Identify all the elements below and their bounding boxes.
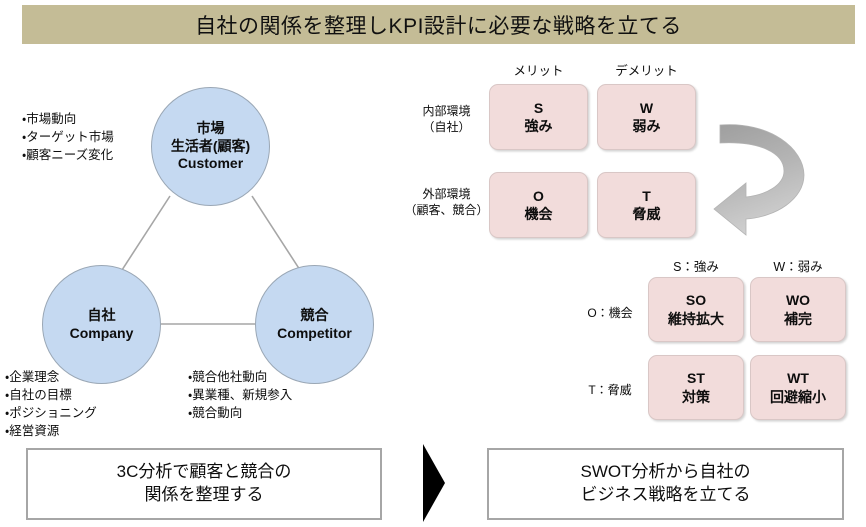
- cross-swot-row-header-opportunity: O：機会: [577, 305, 643, 321]
- cross-swot-column-header-weakness: W：弱み: [750, 256, 846, 275]
- circle-company-line1: 自社: [88, 307, 116, 325]
- page-title: 自社の関係を整理しKPI設計に必要な戦略を立てる: [195, 10, 682, 40]
- swot-column-header-merit: メリット: [489, 60, 588, 79]
- caption-three-c-text: 3C分析で顧客と競合の関係を整理する: [117, 461, 292, 507]
- swot-cell-opportunity[interactable]: O 機会: [489, 172, 588, 238]
- circle-competitor-line1: 競合: [301, 307, 329, 325]
- caption-box-three-c[interactable]: 3C分析で顧客と競合の関係を整理する: [26, 448, 382, 520]
- swot-row-header-external: 外部環境（顧客、競合）: [398, 186, 495, 218]
- circle-customer[interactable]: 市場 生活者(顧客) Customer: [151, 87, 270, 206]
- swot-cell-threat[interactable]: T 脅威: [597, 172, 696, 238]
- circle-customer-line3: Customer: [178, 155, 243, 173]
- slide-canvas: 自社の関係を整理しKPI設計に必要な戦略を立てる 市場 生活者(顧客) Cust…: [0, 0, 866, 527]
- slide-title-banner: 自社の関係を整理しKPI設計に必要な戦略を立てる: [22, 5, 855, 44]
- circle-customer-line1: 市場: [197, 120, 225, 138]
- cross-swot-cell-st-letter: ST: [687, 369, 705, 387]
- swot-row-header-internal: 内部環境（自社）: [404, 103, 489, 135]
- cross-swot-cell-wt-label: 回避縮小: [770, 388, 826, 406]
- cross-swot-column-header-strength: S：強み: [648, 256, 744, 275]
- notes-customer: ・市場動向・ターゲット市場・顧客ニーズ変化: [22, 110, 114, 164]
- swot-cell-threat-letter: T: [642, 187, 651, 205]
- cross-swot-cell-wt[interactable]: WT 回避縮小: [750, 355, 846, 420]
- caption-swot-text: SWOT分析から自社のビジネス戦略を立てる: [581, 461, 751, 507]
- swot-column-header-demerit: デメリット: [597, 60, 696, 79]
- curved-arrow-icon: [708, 113, 838, 238]
- cross-swot-cell-st[interactable]: ST 対策: [648, 355, 744, 420]
- circle-company-line2: Company: [70, 325, 134, 343]
- cross-swot-cell-st-label: 対策: [682, 388, 710, 406]
- caption-box-swot[interactable]: SWOT分析から自社のビジネス戦略を立てる: [487, 448, 844, 520]
- cross-swot-cell-wo-letter: WO: [786, 291, 810, 309]
- swot-cell-threat-label: 脅威: [633, 205, 661, 223]
- cross-swot-cell-wo-label: 補完: [784, 310, 812, 328]
- swot-cell-opportunity-label: 機会: [525, 205, 553, 223]
- circle-competitor[interactable]: 競合 Competitor: [255, 265, 374, 384]
- swot-cell-weakness-letter: W: [640, 99, 653, 117]
- notes-competitor: ・競合他社動向・異業種、新規参入・競合動向: [188, 368, 292, 422]
- cross-swot-cell-so-label: 維持拡大: [668, 310, 724, 328]
- cross-swot-cell-wo[interactable]: WO 補完: [750, 277, 846, 342]
- swot-cell-opportunity-letter: O: [533, 187, 544, 205]
- circle-customer-line2: 生活者(顧客): [171, 138, 250, 156]
- circle-company[interactable]: 自社 Company: [42, 265, 161, 384]
- cross-swot-cell-so-letter: SO: [686, 291, 706, 309]
- notes-company: ・企業理念・自社の目標・ポジショニング・経営資源: [5, 368, 97, 441]
- cross-swot-cell-wt-letter: WT: [787, 369, 809, 387]
- swot-cell-strength-letter: S: [534, 99, 543, 117]
- swot-cell-weakness-label: 弱み: [633, 117, 661, 135]
- swot-cell-strength[interactable]: S 強み: [489, 84, 588, 150]
- cross-swot-cell-so[interactable]: SO 維持拡大: [648, 277, 744, 342]
- swot-cell-strength-label: 強み: [525, 117, 553, 135]
- swot-cell-weakness[interactable]: W 弱み: [597, 84, 696, 150]
- circle-competitor-line2: Competitor: [277, 325, 352, 343]
- right-arrow-icon: [419, 442, 445, 524]
- cross-swot-row-header-threat: T：脅威: [577, 382, 643, 398]
